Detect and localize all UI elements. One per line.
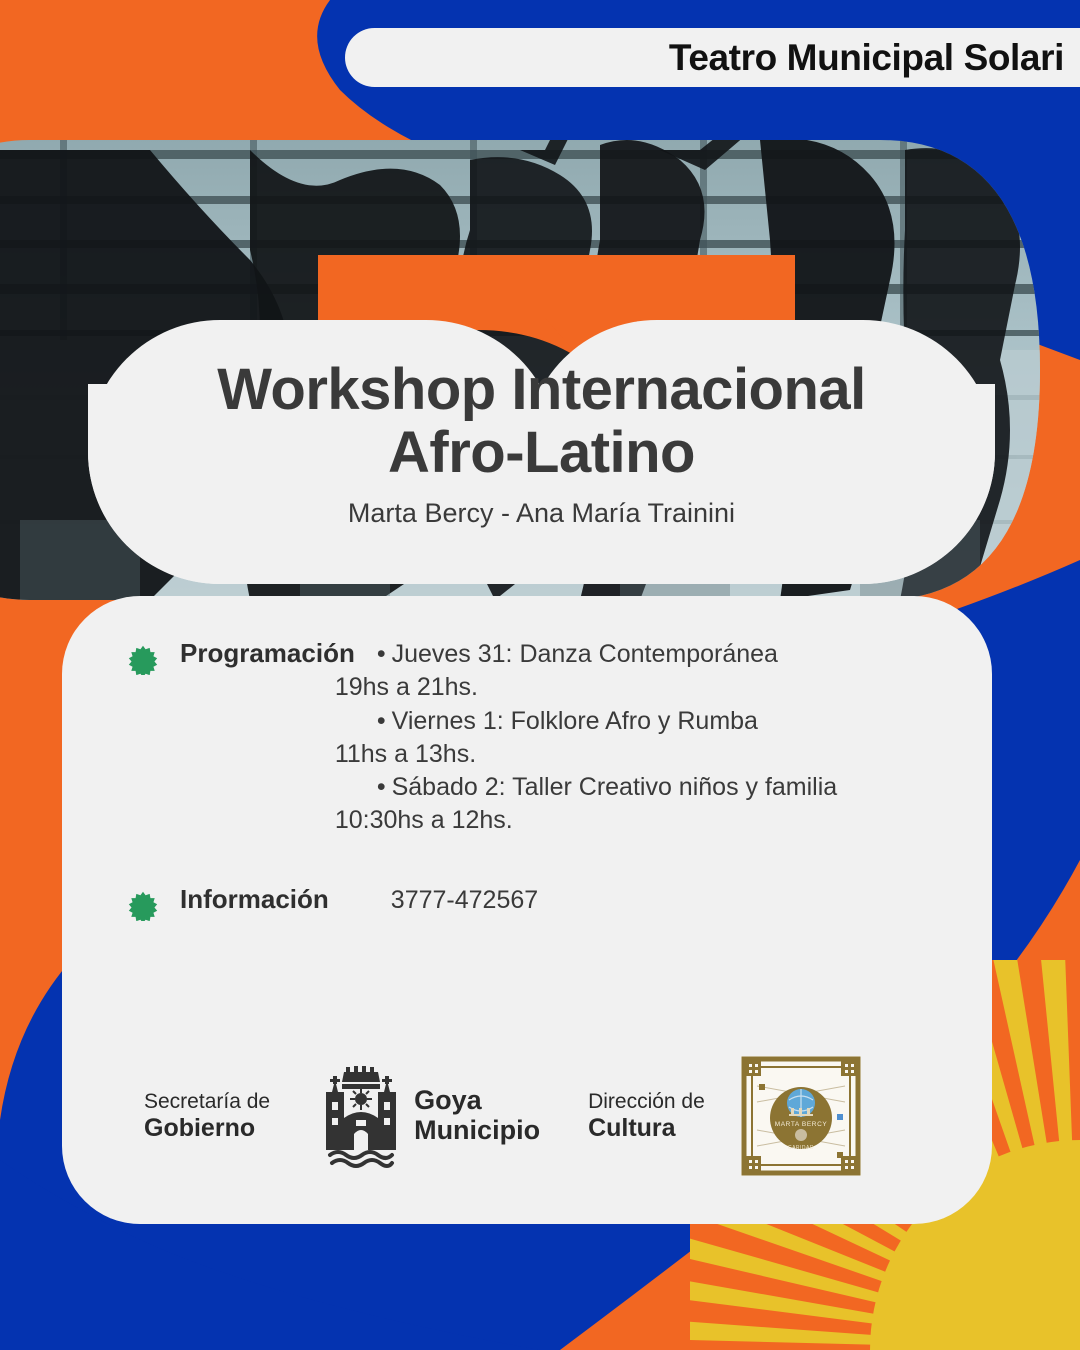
informacion-section: Información 3777-472567 — [62, 884, 992, 921]
programacion-item-event: Sábado 2: Taller Creativo niños y famili… — [392, 773, 838, 801]
bullet-dot: • — [377, 707, 386, 735]
poster-canvas: Teatro Municipal Solari Workshop Interna… — [0, 0, 1080, 1350]
svg-text:CARIDAD: CARIDAD — [788, 1145, 814, 1151]
programacion-item-event: Viernes 1: Folklore Afro y Rumba — [392, 707, 758, 735]
secretaria-logo: Secretaría de Gobierno — [144, 1090, 270, 1142]
marta-bercy-ornate-logo-icon: MARTA BERCY CARIDAD — [741, 1056, 861, 1176]
programacion-label: Programación — [180, 638, 355, 669]
goya-line-2: Municipio — [414, 1116, 540, 1146]
secretaria-line-1: Secretaría de — [144, 1090, 270, 1114]
goya-line-1: Goya — [414, 1086, 540, 1116]
programacion-item-time: 10:30hs a 12hs. — [335, 804, 837, 837]
programacion-item: •Jueves 31: Danza Contemporánea — [377, 638, 837, 671]
bullet-dot: • — [377, 773, 386, 801]
green-starburst-icon — [128, 645, 158, 675]
programacion-item: •Viernes 1: Folklore Afro y Rumba — [377, 705, 837, 738]
page-title-line-1: Workshop Internacional — [217, 358, 866, 421]
goya-coat-of-arms-icon — [318, 1062, 404, 1170]
programacion-item-event: Jueves 31: Danza Contemporánea — [392, 640, 778, 668]
programacion-item: •Sábado 2: Taller Creativo niños y famil… — [377, 771, 837, 804]
direccion-line-1: Dirección de — [588, 1090, 705, 1114]
svg-text:MARTA BERCY: MARTA BERCY — [775, 1121, 828, 1128]
programacion-item-time: 11hs a 13hs. — [335, 738, 837, 771]
programacion-list: •Jueves 31: Danza Contemporánea 19hs a 2… — [377, 638, 837, 838]
venue-header-pill: Teatro Municipal Solari — [345, 28, 1080, 87]
informacion-phone[interactable]: 3777-472567 — [391, 886, 538, 915]
title-card: Workshop Internacional Afro-Latino Marta… — [88, 320, 995, 584]
programacion-item-time: 19hs a 21hs. — [335, 671, 837, 704]
bullet-dot: • — [377, 640, 386, 668]
programacion-section: Programación •Jueves 31: Danza Contempor… — [62, 638, 992, 838]
goya-municipio-text: Goya Municipio — [414, 1086, 540, 1145]
footer-logos: Secretaría de Gobierno — [62, 1056, 992, 1176]
secretaria-line-2: Gobierno — [144, 1114, 270, 1142]
page-title-line-2: Afro-Latino — [388, 421, 695, 484]
page-subtitle: Marta Bercy - Ana María Trainini — [348, 498, 735, 529]
main-info-card: Programación •Jueves 31: Danza Contempor… — [62, 596, 992, 1224]
informacion-label: Información — [180, 884, 329, 915]
venue-title: Teatro Municipal Solari — [669, 37, 1064, 79]
green-starburst-icon — [128, 891, 158, 921]
direccion-cultura-logo: Dirección de Cultura — [588, 1090, 705, 1142]
direccion-line-2: Cultura — [588, 1114, 705, 1142]
